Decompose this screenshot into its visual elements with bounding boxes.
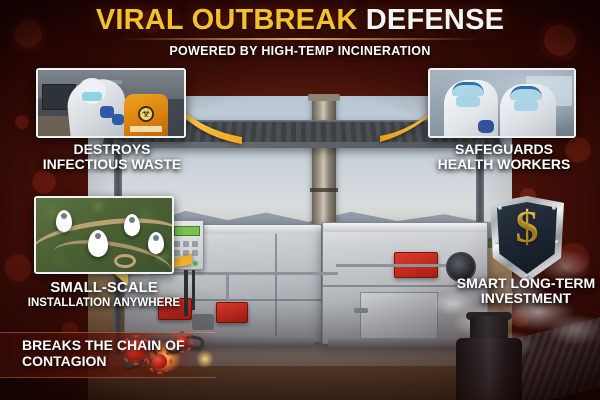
photo-roundabout — [114, 254, 136, 268]
photo-bag-label — [130, 126, 162, 132]
caption-line-2: INFECTIOUS WASTE — [22, 157, 202, 172]
photo-glove — [478, 120, 494, 133]
caption-safeguards-health-workers: SAFEGUARDS HEALTH WORKERS — [418, 142, 590, 173]
photo-hazmat-worker: ☣ — [38, 70, 184, 136]
caption-line-2: HEALTH WORKERS — [418, 157, 590, 172]
caption-line-2: INSTALLATION ANYWHERE — [14, 297, 194, 310]
shield-rivet — [552, 206, 556, 210]
caption-small-scale-installation: SMALL-SCALE INSTALLATION ANYWHERE — [14, 280, 194, 309]
shield-rivet — [498, 206, 502, 210]
caption-breaks-the-chain: BREAKS THE CHAIN OF CONTAGION — [22, 338, 212, 369]
photo-glove — [112, 114, 124, 125]
caption-smart-long-term-investment: SMART LONG-TERM INVESTMENT — [440, 276, 600, 307]
photo-face-mask — [456, 96, 480, 107]
card-small-scale-installation — [34, 196, 174, 274]
photo-health-workers — [430, 70, 574, 136]
photo-face-mask — [514, 100, 538, 111]
map-pin-icon — [124, 214, 140, 236]
dollar-sign-icon: $ — [490, 204, 564, 250]
shield-badge: $ — [490, 196, 564, 282]
photo-face-shield — [452, 82, 484, 96]
photo-face-mask — [82, 92, 102, 101]
shield-rivet — [495, 240, 499, 244]
title-secondary-text: DEFENSE — [366, 4, 504, 36]
photo-aerial-map — [36, 198, 172, 272]
map-pin-icon — [148, 232, 164, 254]
biohazard-icon: ☣ — [138, 106, 154, 122]
caption-line-1: SMALL-SCALE — [14, 280, 194, 297]
shield-rivet — [555, 240, 559, 244]
page-subtitle: POWERED BY HIGH-TEMP INCINERATION — [0, 44, 600, 58]
map-pin-icon — [56, 210, 72, 232]
card-safeguards-health-workers — [428, 68, 576, 138]
infographic-poster: ☣ DESTROYS INFECTIOUS WASTE SAFEGUARDS H… — [0, 0, 600, 400]
caption-line-1: BREAKS THE CHAIN — [22, 337, 161, 353]
map-pin-icon — [88, 230, 108, 257]
caption-line-2: INVESTMENT — [440, 291, 600, 306]
page-title: VIRAL OUTBREAK DEFENSE — [0, 6, 600, 35]
photo-face-shield — [510, 86, 542, 100]
caption-destroys-infectious-waste: DESTROYS INFECTIOUS WASTE — [22, 142, 202, 173]
title-divider — [120, 38, 480, 40]
card-destroys-infectious-waste: ☣ — [36, 68, 186, 138]
title-accent-text: VIRAL OUTBREAK — [96, 4, 358, 36]
